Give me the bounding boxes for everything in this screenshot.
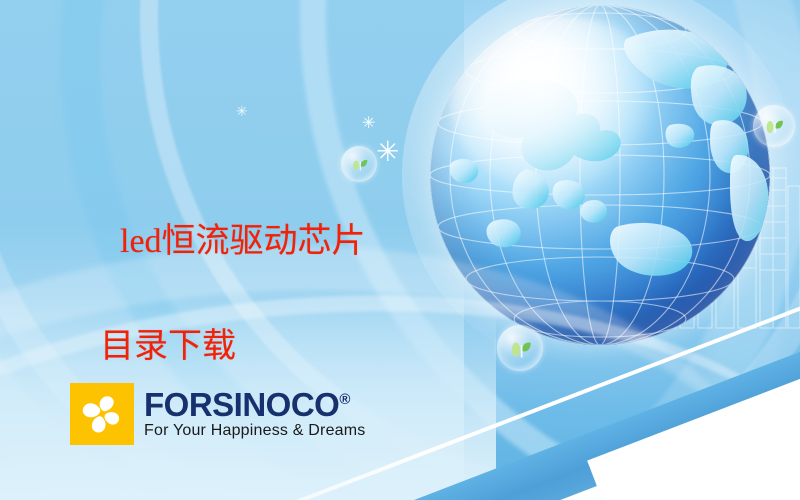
headline-line-1: led恒流驱动芯片	[120, 223, 366, 260]
headline-line-2: 目录下载	[86, 321, 506, 374]
brand-name-text: FORSINOCO	[144, 386, 339, 423]
starburst-icon-2: ✳	[362, 116, 375, 132]
starburst-icon-1: ✳	[376, 138, 399, 166]
brand-logo[interactable]: FORSINOCO® For Your Happiness & Dreams	[70, 383, 366, 445]
starburst-icon-3: ✳	[236, 104, 248, 118]
brand-name: FORSINOCO®	[144, 388, 366, 422]
four-petal-pinwheel-icon	[78, 390, 126, 438]
leaf-icon	[508, 336, 533, 361]
brand-tagline: For Your Happiness & Dreams	[144, 422, 366, 440]
bubble-leaf-top-right	[753, 105, 795, 147]
logo-text: FORSINOCO® For Your Happiness & Dreams	[144, 388, 366, 441]
promo-banner: ✳ ✳ ✳ led恒流驱动芯片 目录下载	[0, 0, 800, 500]
leaf-icon	[763, 115, 785, 137]
logo-mark	[70, 383, 134, 445]
registered-trademark-icon: ®	[339, 391, 350, 408]
